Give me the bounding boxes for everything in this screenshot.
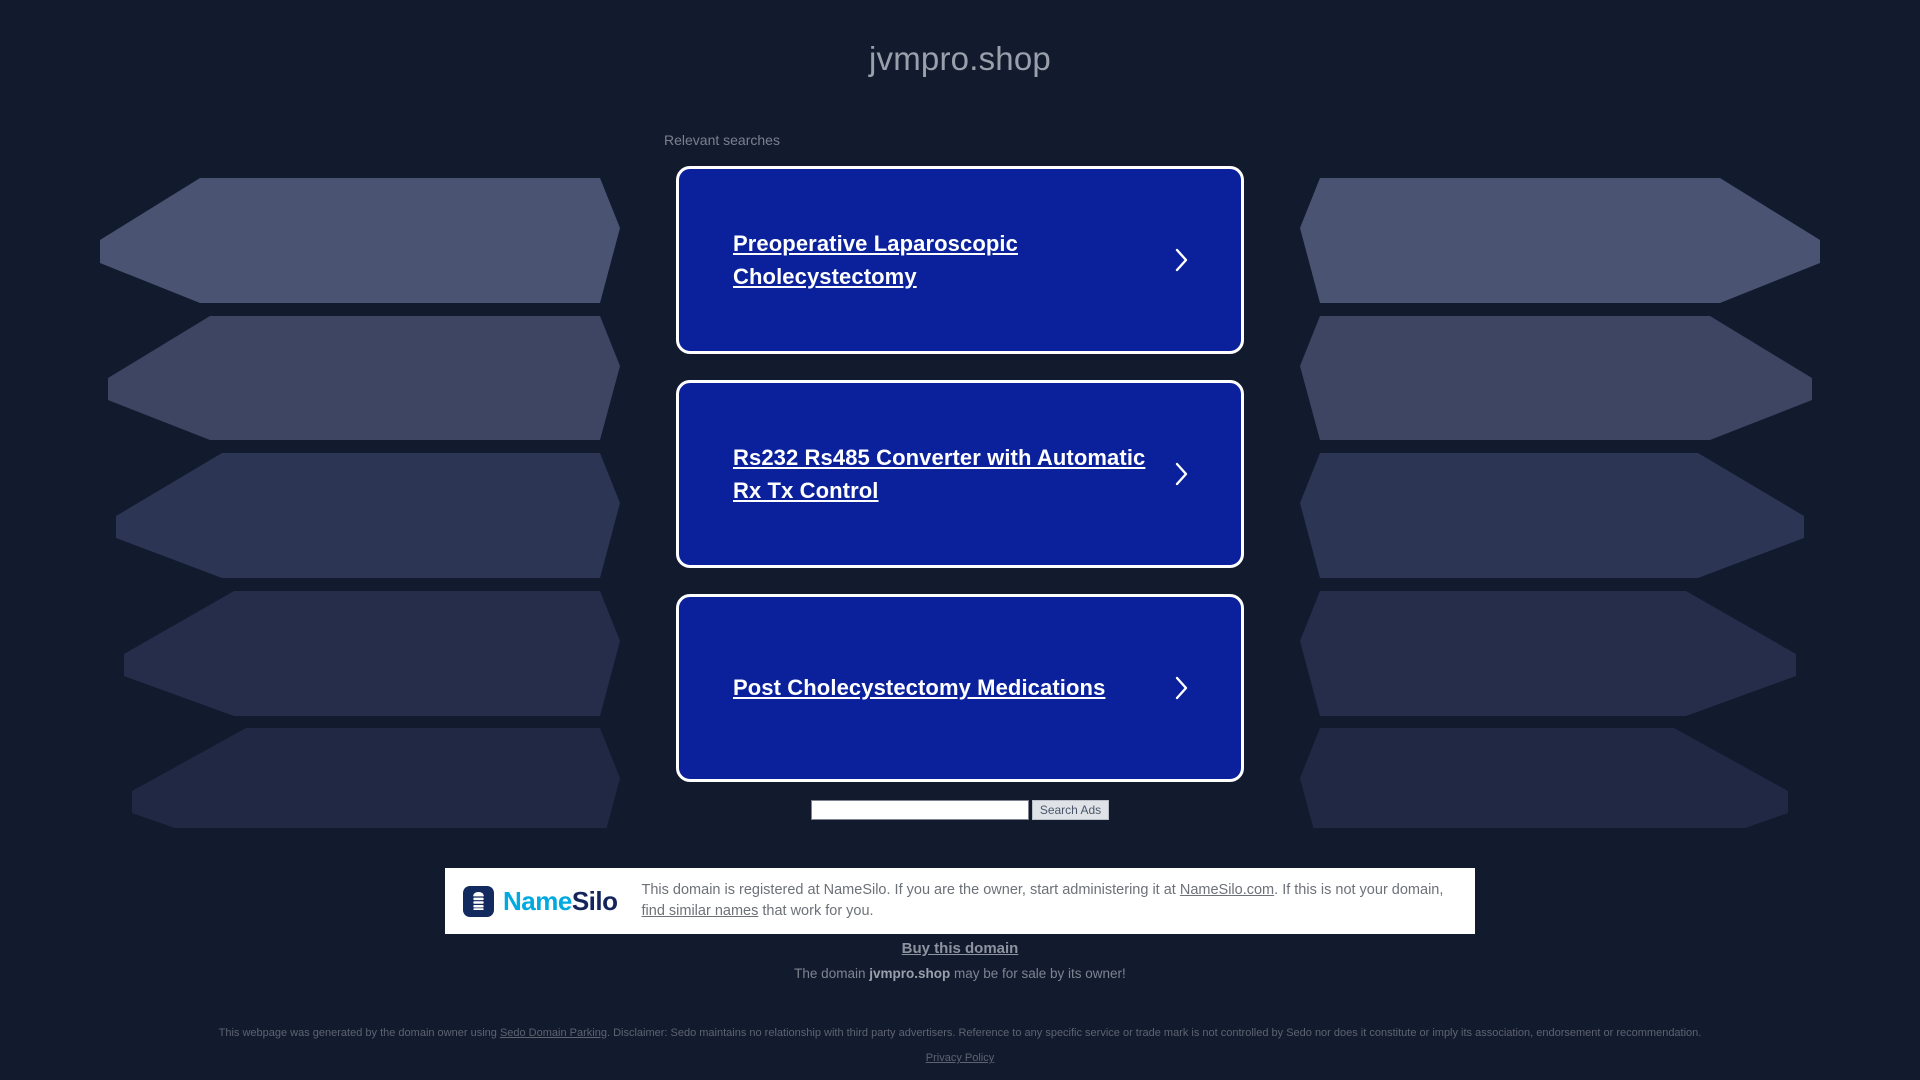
ad-card-list: Preoperative Laparoscopic Cholecystectom…: [676, 166, 1244, 808]
chevron-right-icon: [1169, 675, 1195, 701]
find-similar-names-link[interactable]: find similar names: [642, 903, 759, 919]
page-title: jvmpro.shop: [0, 40, 1920, 78]
disclaimer-prefix: This webpage was generated by the domain…: [219, 1027, 500, 1039]
namesilo-text-part3: that work for you.: [758, 903, 873, 919]
search-input[interactable]: [811, 800, 1029, 820]
namesilo-com-link[interactable]: NameSilo.com: [1180, 882, 1274, 898]
ad-card-title[interactable]: Rs232 Rs485 Converter with Automatic Rx …: [733, 441, 1153, 508]
chevron-right-icon: [1169, 247, 1195, 273]
namesilo-logo: NameSilo: [463, 886, 642, 917]
buy-this-domain-link[interactable]: Buy this domain: [0, 940, 1920, 957]
namesilo-wordmark-silo: Silo: [572, 886, 618, 916]
ad-card[interactable]: Preoperative Laparoscopic Cholecystectom…: [676, 166, 1244, 354]
namesilo-silo-icon: [463, 886, 494, 917]
ad-card[interactable]: Post Cholecystectomy Medications: [676, 594, 1244, 782]
namesilo-text-part1: This domain is registered at NameSilo. I…: [642, 882, 1180, 898]
privacy-policy-container: Privacy Policy: [0, 1052, 1920, 1064]
namesilo-banner-text: This domain is registered at NameSilo. I…: [642, 880, 1458, 922]
search-ads-form: Search Ads: [0, 800, 1920, 820]
footer-disclaimer: This webpage was generated by the domain…: [0, 1026, 1920, 1041]
ad-card-title[interactable]: Preoperative Laparoscopic Cholecystectom…: [733, 227, 1153, 294]
namesilo-wordmark-name: Name: [503, 886, 572, 916]
relevant-searches-label: Relevant searches: [664, 132, 780, 148]
namesilo-wordmark: NameSilo: [503, 886, 618, 917]
search-ads-button[interactable]: Search Ads: [1032, 800, 1109, 820]
chevron-right-icon: [1169, 461, 1195, 487]
decorative-hexagon-stack-right: [1300, 168, 1820, 828]
disclaimer-suffix: . Disclaimer: Sedo maintains no relation…: [607, 1027, 1701, 1039]
buy-domain-subtext: The domain jvmpro.shop may be for sale b…: [0, 966, 1920, 981]
buy-sub-suffix: may be for sale by its owner!: [950, 966, 1126, 981]
sedo-domain-parking-link[interactable]: Sedo Domain Parking: [500, 1027, 607, 1039]
privacy-policy-link[interactable]: Privacy Policy: [926, 1052, 994, 1064]
decorative-hexagon-stack-left: [100, 168, 620, 828]
buy-sub-prefix: The domain: [794, 966, 869, 981]
ad-card[interactable]: Rs232 Rs485 Converter with Automatic Rx …: [676, 380, 1244, 568]
namesilo-text-part2: . If this is not your domain,: [1274, 882, 1443, 898]
namesilo-banner: NameSilo This domain is registered at Na…: [445, 868, 1475, 934]
parked-domain-page: jvmpro.shop Relevant searches Preoperati…: [0, 0, 1920, 1080]
buy-sub-domain: jvmpro.shop: [869, 966, 950, 981]
ad-card-title[interactable]: Post Cholecystectomy Medications: [733, 671, 1153, 704]
